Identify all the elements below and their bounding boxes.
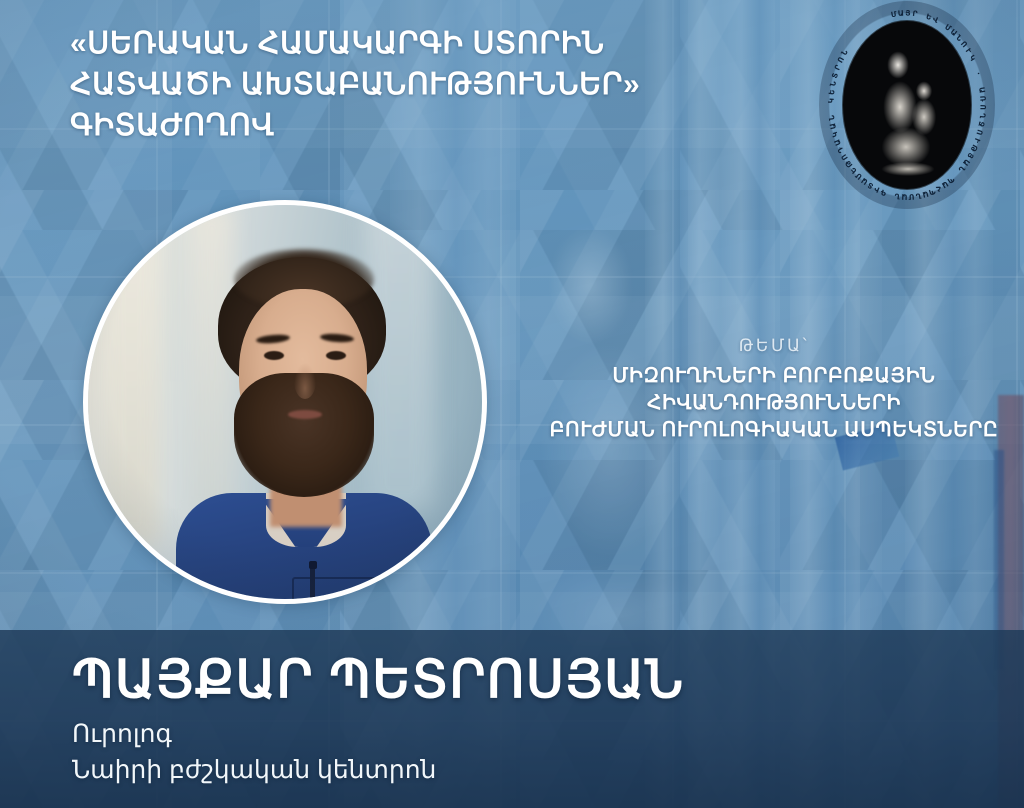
speaker-role: Ուրոլոգ	[72, 716, 684, 752]
speaker-banner-content: ՊԱՅՔԱՐ ՊԵՏՐՈՍՅԱՆ Ուրոլոգ Նաիրի բժշկական …	[72, 650, 684, 788]
title-line-1: «ՍԵՌԱԿԱՆ ՀԱՄԱԿԱՐԳԻ ՍՏՈՐԻՆ	[70, 23, 800, 64]
topic-block: ԹԵՄԱ՝ ՄԻԶՈՒՂԻՆԵՐԻ ԲՈՐԲՈՔԱՅԻՆ ՀԻՎԱՆԴՈՒԹՅՈ…	[520, 336, 1024, 444]
title-line-3: ԳԻՏԱԺՈՂՈՎ	[70, 105, 800, 146]
topic-line-3: ԲՈՒԺՄԱՆ ՈՒՐՈԼՈԳԻԱԿԱՆ ԱՍՊԵԿՏՆԵՐԸ	[520, 417, 1024, 444]
avatar	[83, 200, 487, 604]
portrait-vignette	[88, 205, 482, 599]
page-title: «ՍԵՌԱԿԱՆ ՀԱՄԱԿԱՐԳԻ ՍՏՈՐԻՆ ՀԱՏՎԱԾԻ ԱԽՏԱԲԱ…	[70, 23, 800, 146]
speaker-banner: ՊԱՅՔԱՐ ՊԵՏՐՈՍՅԱՆ Ուրոլոգ Նաիրի բժշկական …	[0, 630, 1024, 808]
speaker-organization: Նաիրի բժշկական կենտրոն	[72, 752, 684, 788]
mother-and-child-statue-icon	[864, 47, 950, 177]
title-line-2: ՀԱՏՎԱԾԻ ԱԽՏԱԲԱՆՈՒԹՅՈՒՆՆԵՐ»	[70, 64, 800, 105]
topic-line-2: ՀԻՎԱՆԴՈՒԹՅՈՒՆՆԵՐԻ	[520, 390, 1024, 417]
emblem-oval-field	[843, 21, 971, 189]
medical-center-emblem-icon: ՄԱՅՐ ԵՎ ՄԱՆՈՒԿ · ԱՌՈՂՋՈՒԹՅԱՆ ՊԱՀՊԱՆՄԱՆ Գ…	[795, 0, 1019, 210]
topic-label: ԹԵՄԱ՝	[520, 336, 1024, 356]
conference-speaker-poster: «ՍԵՌԱԿԱՆ ՀԱՄԱԿԱՐԳԻ ՍՏՈՐԻՆ ՀԱՏՎԱԾԻ ԱԽՏԱԲԱ…	[0, 0, 1024, 808]
speaker-name: ՊԱՅՔԱՐ ՊԵՏՐՈՍՅԱՆ	[72, 650, 684, 710]
topic-line-1: ՄԻԶՈՒՂԻՆԵՐԻ ԲՈՐԲՈՔԱՅԻՆ	[520, 363, 1024, 390]
